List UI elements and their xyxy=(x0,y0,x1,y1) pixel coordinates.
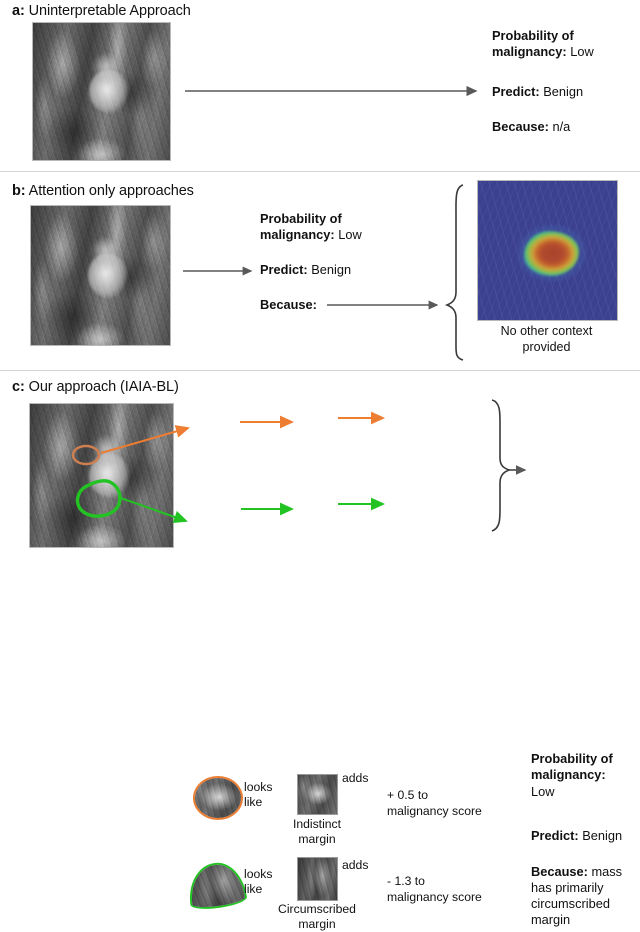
panel-a-title: a: Uninterpretable Approach xyxy=(12,3,191,19)
panel-c-predict-value: Benign xyxy=(582,828,622,843)
panel-c-because-line4: margin xyxy=(531,912,570,929)
indistinct-margin-caption-line1: Indistinct xyxy=(281,817,353,832)
panel-b-label: b: xyxy=(12,183,26,199)
looks-like-orange-line2: like xyxy=(244,795,262,810)
panel-c: c: Our approach (IAIA-BL) looks like loo… xyxy=(0,370,640,561)
panel-b-mammogram xyxy=(30,205,171,346)
panel-b-because: Because: xyxy=(260,297,317,314)
panel-c-prob-label-1: Probability of xyxy=(531,751,613,768)
panel-c-because-label: Because: xyxy=(531,864,588,879)
panel-c-because-line1: mass xyxy=(591,864,622,879)
panel-c-prob-label-text: Probability of xyxy=(531,751,613,766)
panel-a-because-value: n/a xyxy=(552,119,570,134)
looks-like-green-line1: looks xyxy=(244,867,272,882)
panel-a: a: Uninterpretable Approach Probability … xyxy=(0,0,640,171)
score-orange-line2: malignancy score xyxy=(387,804,482,819)
panel-b-prob-value: Low xyxy=(338,227,361,242)
mammogram-lesion xyxy=(89,70,127,114)
looks-like-orange-line1: looks xyxy=(244,780,272,795)
panel-a-prob-line2: malignancy: Low xyxy=(492,44,594,61)
panel-c-because: Because: mass xyxy=(531,864,622,881)
panel-c-because-line3: circumscribed xyxy=(531,896,610,913)
panel-a-because: Because: n/a xyxy=(492,119,570,136)
panel-a-prob-value: Low xyxy=(570,44,593,59)
panel-a-prob-label-1: Probability of xyxy=(492,28,574,45)
panel-b-attention-heatmap xyxy=(477,180,618,321)
panel-b-because-label: Because: xyxy=(260,297,317,312)
panel-a-prob-label-text: Probability of xyxy=(492,28,574,43)
indistinct-margin-caption-line2: margin xyxy=(281,832,353,847)
panel-a-because-label: Because: xyxy=(492,119,549,134)
adds-label-green: adds xyxy=(342,858,368,873)
panel-b-predict: Predict: Benign xyxy=(260,262,351,279)
panel-a-predict-label: Predict: xyxy=(492,84,540,99)
circumscribed-margin-prototype xyxy=(185,859,248,911)
panel-b-predict-label: Predict: xyxy=(260,262,308,277)
circumscribed-margin-caption-line2: margin xyxy=(268,917,366,932)
panel-b-prob-label-1: Probability of xyxy=(260,211,342,228)
panel-c-prob-label-text2: malignancy: xyxy=(531,767,606,782)
panel-c-title: c: Our approach (IAIA-BL) xyxy=(12,379,179,395)
indistinct-margin-prototype xyxy=(193,776,243,820)
panel-a-predict: Predict: Benign xyxy=(492,84,583,101)
panel-c-prob-value: Low xyxy=(531,784,554,801)
panel-b-prob-label-text: Probability of xyxy=(260,211,342,226)
score-green-line1: - 1.3 to xyxy=(387,874,425,889)
panel-b-title: b: Attention only approaches xyxy=(12,183,194,199)
score-orange-line1: + 0.5 to xyxy=(387,788,428,803)
panel-c-prob-label-2: malignancy: xyxy=(531,767,606,784)
indistinct-margin-patch xyxy=(297,774,338,815)
circumscribed-margin-caption-line1: Circumscribed xyxy=(268,902,366,917)
prototype-grain xyxy=(193,776,243,820)
heatmap-caption-line2: provided xyxy=(477,339,616,355)
panel-c-predict-label: Predict: xyxy=(531,828,579,843)
panel-c-label: c: xyxy=(12,379,25,395)
panel-b-predict-value: Benign xyxy=(311,262,351,277)
panel-a-label: a: xyxy=(12,3,25,19)
panel-a-title-text: Uninterpretable Approach xyxy=(29,3,191,19)
panel-b-prob-line2: malignancy: Low xyxy=(260,227,362,244)
looks-like-green-line2: like xyxy=(244,882,262,897)
panel-b-title-text: Attention only approaches xyxy=(29,183,194,199)
panel-c-title-text: Our approach (IAIA-BL) xyxy=(29,379,179,395)
prototype-grain xyxy=(185,859,248,911)
panel-a-prob-label-text2: malignancy: xyxy=(492,44,567,59)
panel-a-predict-value: Benign xyxy=(543,84,583,99)
panel-c-because-line2: has primarily xyxy=(531,880,604,897)
panel-c-predict: Predict: Benign xyxy=(531,828,622,845)
circumscribed-margin-patch xyxy=(297,857,338,901)
panel-a-mammogram xyxy=(32,22,171,161)
mammogram-lesion xyxy=(88,253,127,297)
adds-label-orange: adds xyxy=(342,771,368,786)
patch-grain xyxy=(298,775,337,814)
panel-c-mammogram xyxy=(29,403,174,548)
score-green-line2: malignancy score xyxy=(387,890,482,905)
mammogram-lesion xyxy=(89,453,129,499)
panel-b: b: Attention only approaches Probability… xyxy=(0,171,640,370)
patch-grain xyxy=(298,858,337,900)
heatmap-caption-line1: No other context xyxy=(477,323,616,339)
panel-b-prob-label-text2: malignancy: xyxy=(260,227,335,242)
